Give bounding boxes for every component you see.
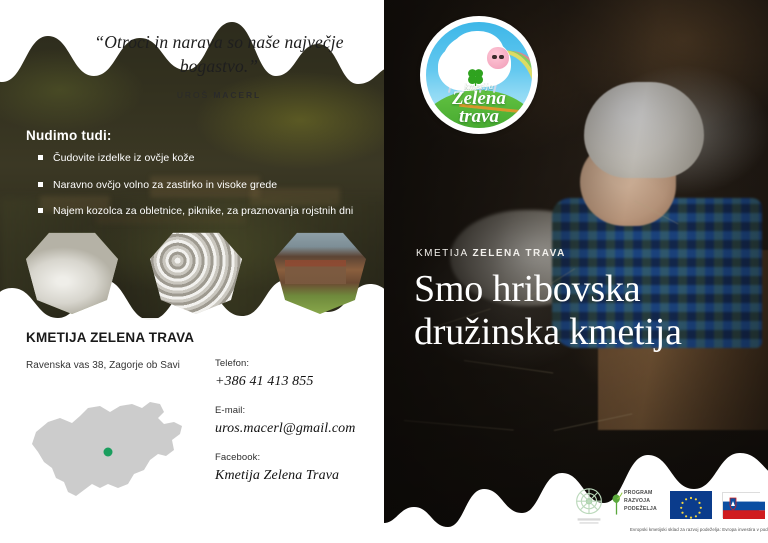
logo-big-text-line2: trava xyxy=(426,108,532,127)
quote-block: “Otroci in narava so naše največje bogas… xyxy=(84,30,354,100)
offer-item-label: Čudovite izdelke iz ovčje kože xyxy=(53,152,195,164)
offer-item-label: Najem kozolca za obletnice, piknike, za … xyxy=(53,205,353,217)
sheep-fleece-photo xyxy=(26,232,118,314)
program-razvoja-podezelja-logo: PROGRAM RAZVOJA PODEŽELJA xyxy=(610,488,664,522)
contact-facebook-label: Facebook: xyxy=(215,452,375,463)
offer-list-item: Najem kozolca za obletnice, piknike, za … xyxy=(38,205,368,218)
quote-text: “Otroci in narava so naše največje bogas… xyxy=(84,30,354,78)
contact-phone: Telefon: +386 41 413 855 xyxy=(215,358,375,390)
farm-address: Ravenska vas 38, Zagorje ob Savi xyxy=(26,360,180,371)
contact-phone-value[interactable]: +386 41 413 855 xyxy=(215,374,375,390)
logo-sheep-head-icon xyxy=(487,47,508,68)
farm-name-heading: KMETIJA ZELENA TRAVA xyxy=(26,330,194,345)
logo-big-text: Zelena trava xyxy=(426,90,532,127)
slovenia-map xyxy=(22,392,202,504)
contact-facebook: Facebook: Kmetija Zelena Trava xyxy=(215,452,375,484)
offer-list-item: Čudovite izdelke iz ovčje kože xyxy=(38,152,368,165)
contact-email-label: E-mail: xyxy=(215,405,375,416)
brochure-page: “Otroci in narava so naše največje bogas… xyxy=(0,0,768,543)
slovenia-map-icon xyxy=(22,392,202,504)
program-logo-text: PROGRAM RAZVOJA PODEŽELJA xyxy=(624,490,657,513)
map-location-marker xyxy=(104,448,113,457)
square-bullet-icon xyxy=(38,208,43,213)
contact-phone-label: Telefon: xyxy=(215,358,375,369)
eyebrow-bold-text: ZELENA TRAVA xyxy=(472,248,565,259)
square-bullet-icon xyxy=(38,182,43,187)
quote-author-last: MACERL xyxy=(213,90,261,100)
offer-heading: Nudimo tudi: xyxy=(26,128,112,143)
contact-facebook-value[interactable]: Kmetija Zelena Trava xyxy=(215,468,375,484)
offer-item-label: Naravno ovčjo volno za zastirko in visok… xyxy=(53,179,277,191)
leader-rosette-icon xyxy=(570,483,608,527)
funding-caption: Evropski kmetijski sklad za razvoj podež… xyxy=(630,527,768,532)
logo-artwork: kmetija Zelena trava xyxy=(426,22,532,128)
page-title: Smo hribovska družinska kmetija xyxy=(414,268,714,355)
contact-email-value[interactable]: uros.macerl@gmail.com xyxy=(215,421,375,437)
european-union-flag xyxy=(670,491,712,519)
program-logo-line1: PROGRAM xyxy=(624,490,657,498)
eyebrow-light-text: KMETIJA xyxy=(416,248,468,259)
quote-author-first: UROŠ xyxy=(177,90,209,100)
eyebrow-label: KMETIJA ZELENA TRAVA xyxy=(416,248,566,259)
program-logo-line2: RAZVOJA xyxy=(624,498,657,506)
offer-list-item: Naravno ovčjo volno za zastirko in visok… xyxy=(38,179,368,192)
raw-wool-photo xyxy=(150,232,242,314)
contact-email: E-mail: uros.macerl@gmail.com xyxy=(215,405,375,437)
square-bullet-icon xyxy=(38,155,43,160)
funding-logos-strip: PROGRAM RAZVOJA PODEŽELJA xyxy=(570,479,760,531)
hexagon-photo-row xyxy=(26,232,366,314)
slovenia-flag xyxy=(722,492,760,518)
contact-column: Telefon: +386 41 413 855 E-mail: uros.ma… xyxy=(215,358,375,499)
left-panel: “Otroci in narava so naše največje bogas… xyxy=(0,0,384,543)
program-logo-line3: PODEŽELJA xyxy=(624,506,657,514)
kozolec-hayrack-photo xyxy=(274,232,366,314)
quote-author: UROŠ MACERL xyxy=(84,90,354,100)
offer-list: Čudovite izdelke iz ovčje kože Naravno o… xyxy=(38,152,368,232)
farm-logo-badge[interactable]: kmetija Zelena trava xyxy=(420,16,538,134)
